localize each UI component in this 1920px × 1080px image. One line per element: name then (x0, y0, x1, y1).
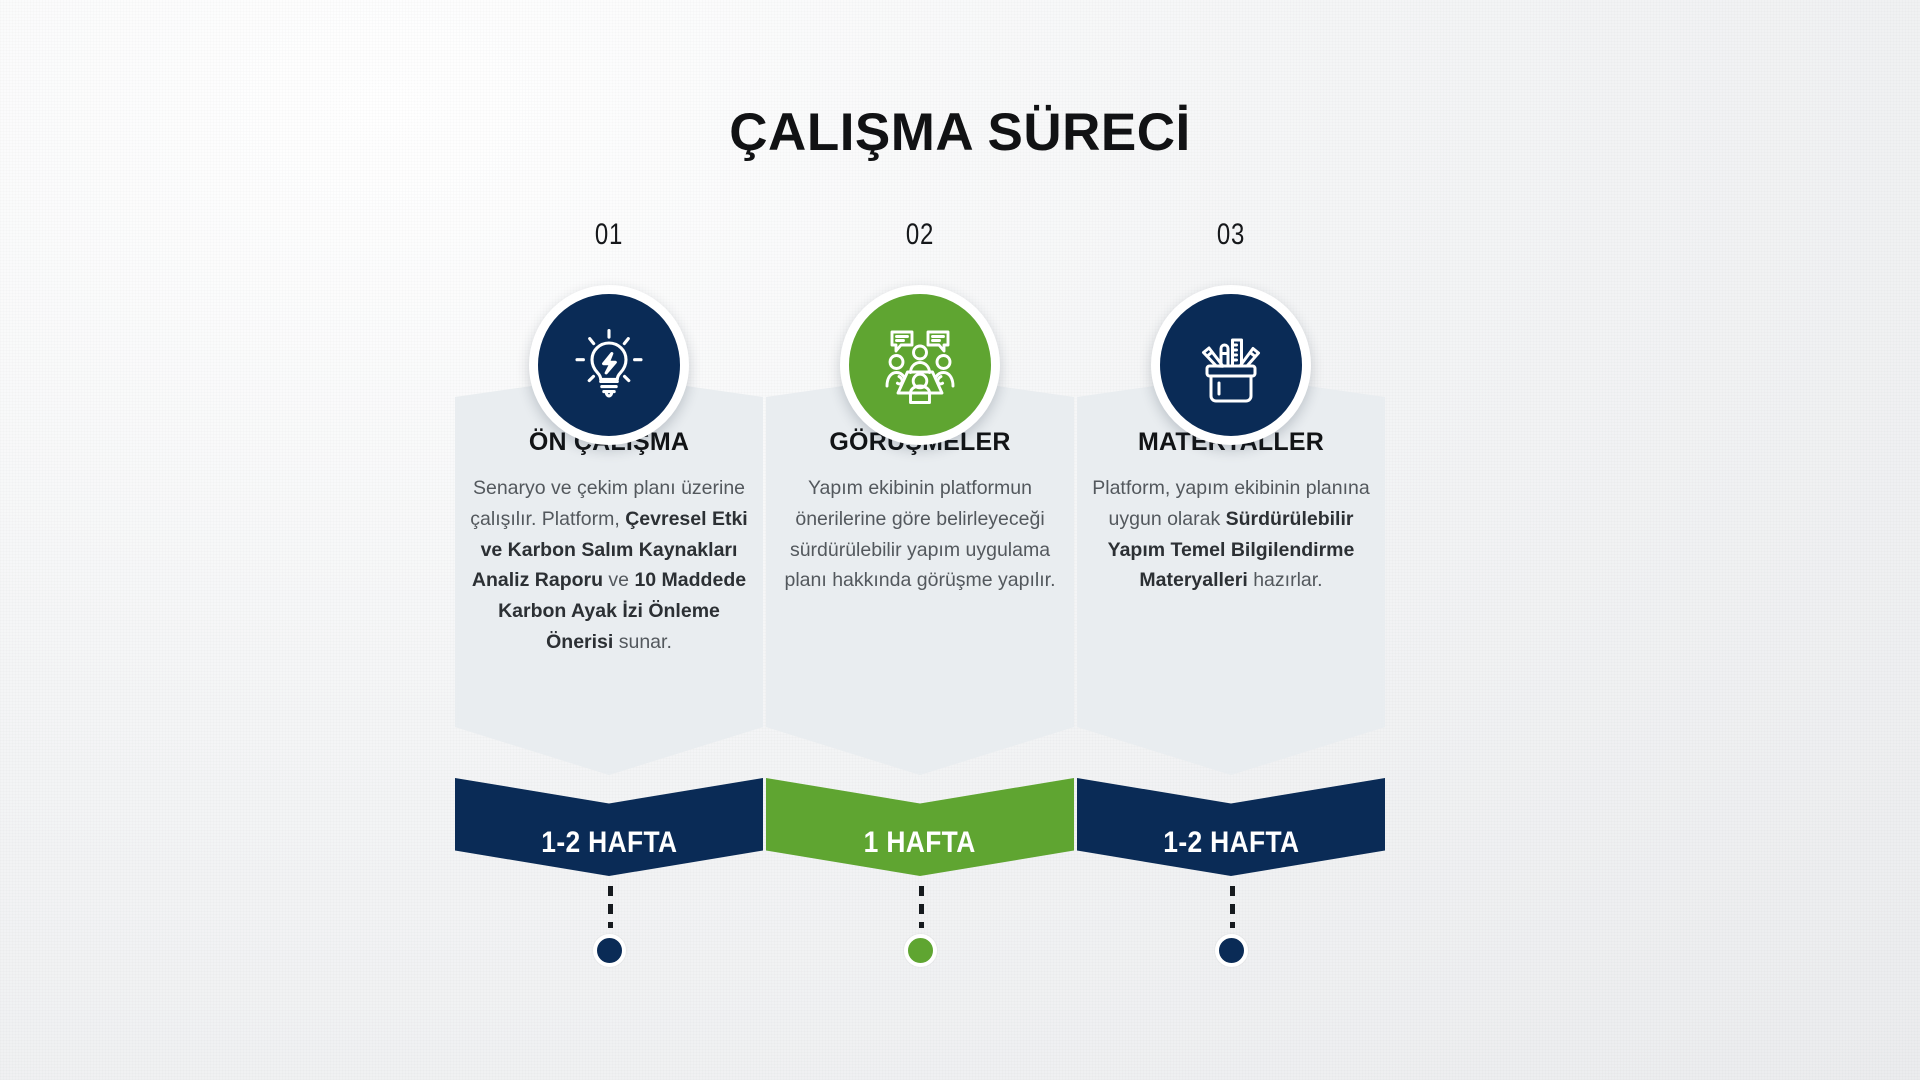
step-number-3: 03 (1108, 218, 1354, 252)
step-icon-badge-3 (1151, 285, 1311, 445)
step-duration-label-2: 1 HAFTA (864, 826, 976, 876)
step-duration-label-3: 1-2 HAFTA (1163, 826, 1299, 876)
step-icon-wrap-1 (455, 285, 763, 445)
step-icon-wrap-2 (766, 285, 1074, 445)
step-number-2: 02 (797, 218, 1043, 252)
connector-dash-3 (1230, 886, 1235, 928)
page-title: ÇALIŞMA SÜRECİ (0, 102, 1920, 163)
step-duration-banner-3: 1-2 HAFTA (1077, 778, 1385, 876)
pen-holder-materials-icon (1188, 322, 1274, 408)
connector-end-dot-3 (1077, 934, 1385, 967)
meeting-people-icon (875, 320, 965, 410)
step-description-2: Yapım ekibinin platformun önerilerine gö… (780, 473, 1060, 596)
step-icon-wrap-3 (1077, 285, 1385, 445)
step-duration-banner-1: 1-2 HAFTA (455, 778, 763, 876)
step-number-1: 01 (486, 218, 732, 252)
step-icon-badge-2 (840, 285, 1000, 445)
connector-end-dot-1 (455, 934, 763, 967)
infographic-canvas: ÇALIŞMA SÜRECİ 01 ÖN ÇALIŞMA Senaryo ve … (0, 0, 1920, 1080)
lightbulb-idea-icon (565, 321, 653, 409)
step-icon-badge-1 (529, 285, 689, 445)
connector-end-dot-2 (766, 934, 1074, 967)
connector-dash-2 (919, 886, 924, 928)
connector-dash-1 (608, 886, 613, 928)
step-description-1: Senaryo ve çekim planı üzerine çalışılır… (469, 473, 749, 658)
step-duration-banner-2: 1 HAFTA (766, 778, 1074, 876)
step-description-3: Platform, yapım ekibinin planına uygun o… (1091, 473, 1371, 596)
step-duration-label-1: 1-2 HAFTA (541, 826, 677, 876)
